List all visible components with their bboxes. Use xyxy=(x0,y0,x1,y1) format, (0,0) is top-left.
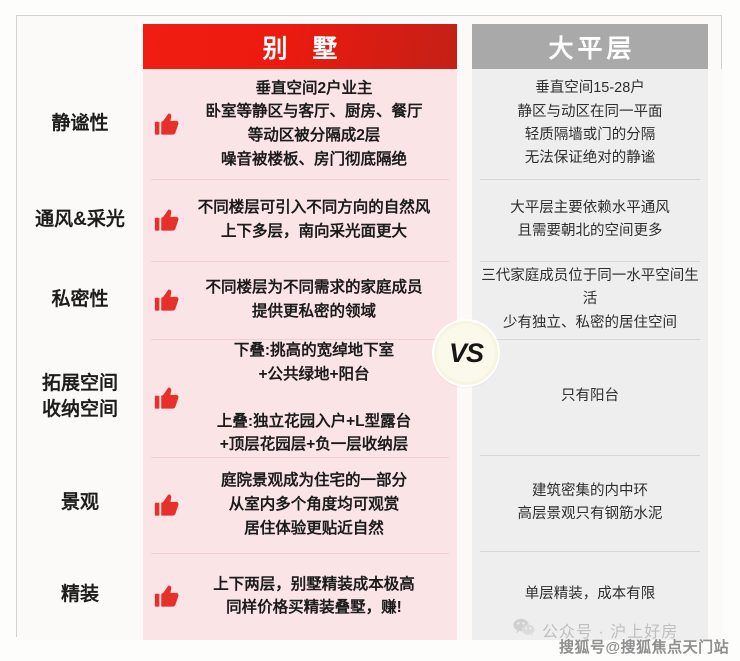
column-pad-right xyxy=(708,69,723,640)
villa-cell-text: 庭院景观成为住宅的一部分 从室内多个角度均可观赏 居住体验更贴近自然 xyxy=(187,469,447,540)
thumbs-up-icon xyxy=(151,283,185,317)
column-header-villa: 别 墅 xyxy=(143,24,457,69)
table-row: 不同楼层为不同需求的家庭成员 提供更私密的领域 xyxy=(143,261,457,339)
column-header-flat-label: 大平层 xyxy=(544,29,635,65)
thumbs-up-icon xyxy=(151,579,185,613)
table-row: 庭院景观成为住宅的一部分 从室内多个角度均可观赏 居住体验更贴近自然 xyxy=(143,457,457,553)
vs-badge-label: VS xyxy=(449,338,483,369)
wechat-icon xyxy=(513,618,535,642)
villa-cell-text: 上下两层，别墅精装成本极高 同样价格买精装叠墅，赚! xyxy=(187,573,447,620)
column-header-villa-label: 别 墅 xyxy=(254,29,347,65)
criteria-label: 景观 xyxy=(61,490,99,516)
comparison-table-frame: 别 墅 大平层 静谧性 通风&采光 私密性 拓展空间 收纳空间 景观 精装 xyxy=(16,15,722,637)
table-row: 只有阳台 xyxy=(472,339,708,455)
thumbs-up-icon xyxy=(151,381,185,415)
flat-cell-text: 垂直空间15-28户 静区与动区在同一平面 轻质隔墙或门的分隔 无法保证绝对的静… xyxy=(518,77,663,171)
villa-column: 垂直空间2户业主 卧室等静区与客厅、厨房、餐厅 等动区被分隔成2层 噪音被楼板、… xyxy=(143,69,457,640)
villa-cell-text: 不同楼层为不同需求的家庭成员 提供更私密的领域 xyxy=(187,276,447,323)
flat-column: 垂直空间15-28户 静区与动区在同一平面 轻质隔墙或门的分隔 无法保证绝对的静… xyxy=(472,69,708,640)
villa-cell-text: 下叠:挑高的宽绰地下室 +公共绿地+阳台 上叠:独立花园入户+L型露台 +顶层花… xyxy=(187,339,447,457)
comparison-grid: 别 墅 大平层 静谧性 通风&采光 私密性 拓展空间 收纳空间 景观 精装 xyxy=(17,16,721,636)
table-row: 通风&采光 xyxy=(17,179,143,261)
table-row: 建筑密集的内中环 高层景观只有钢筋水泥 xyxy=(472,455,708,551)
criteria-label: 通风&采光 xyxy=(35,207,125,233)
source-watermark: 搜狐号@搜狐焦点天门站 xyxy=(559,636,729,657)
table-row: 景观 xyxy=(17,455,143,551)
criteria-label-column: 静谧性 通风&采光 私密性 拓展空间 收纳空间 景观 精装 xyxy=(17,69,143,640)
flat-cell-text: 建筑密集的内中环 高层景观只有钢筋水泥 xyxy=(518,480,663,527)
thumbs-up-icon xyxy=(151,488,185,522)
vs-badge: VS xyxy=(434,321,498,385)
table-row: 垂直空间2户业主 卧室等静区与客厅、厨房、餐厅 等动区被分隔成2层 噪音被楼板、… xyxy=(143,69,457,179)
table-row: 不同楼层可引入不同方向的自然风 上下多层，南向采光面更大 xyxy=(143,179,457,261)
criteria-label: 静谧性 xyxy=(51,111,108,137)
villa-cell-text: 垂直空间2户业主 卧室等静区与客厅、厨房、餐厅 等动区被分隔成2层 噪音被楼板、… xyxy=(187,77,447,171)
column-header-flat: 大平层 xyxy=(472,24,708,69)
table-row: 垂直空间15-28户 静区与动区在同一平面 轻质隔墙或门的分隔 无法保证绝对的静… xyxy=(472,69,708,179)
table-row: 精装 xyxy=(17,551,143,638)
criteria-label: 拓展空间 收纳空间 xyxy=(42,371,118,422)
villa-cell-text: 不同楼层可引入不同方向的自然风 上下多层，南向采光面更大 xyxy=(187,196,447,243)
table-row: 下叠:挑高的宽绰地下室 +公共绿地+阳台 上叠:独立花园入户+L型露台 +顶层花… xyxy=(143,339,457,457)
thumbs-up-icon xyxy=(151,107,185,141)
table-row: 私密性 xyxy=(17,261,143,339)
flat-cell-text: 只有阳台 xyxy=(561,385,619,408)
table-row: 拓展空间 收纳空间 xyxy=(17,339,143,455)
table-row: 大平层主要依赖水平通风 且需要朝北的空间更多 xyxy=(472,179,708,261)
table-row: 静谧性 xyxy=(17,69,143,179)
criteria-label: 精装 xyxy=(61,582,99,608)
criteria-label: 私密性 xyxy=(51,287,108,313)
table-row: 三代家庭成员位于同一水平空间生活 少有独立、私密的居住空间 xyxy=(472,261,708,339)
flat-cell-text: 三代家庭成员位于同一水平空间生活 少有独立、私密的居住空间 xyxy=(478,265,702,335)
thumbs-up-icon xyxy=(151,203,185,237)
flat-cell-text: 大平层主要依赖水平通风 且需要朝北的空间更多 xyxy=(510,197,670,244)
flat-cell-text: 单层精装，成本有限 xyxy=(525,583,656,606)
table-row: 上下两层，别墅精装成本极高 同样价格买精装叠墅，赚! xyxy=(143,553,457,640)
